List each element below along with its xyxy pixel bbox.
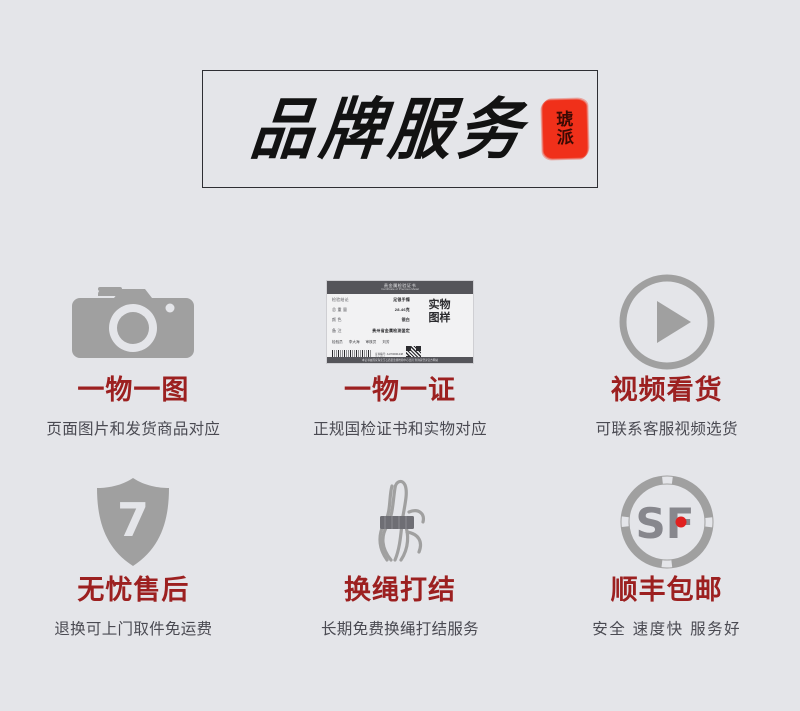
feature-subtitle: 长期免费换绳打结服务 — [321, 617, 479, 639]
certificate-field-key: 检验结论 — [332, 297, 349, 303]
certificate-sample-label-2: 图样 — [428, 312, 450, 325]
certificate-sample-label-1: 实物 — [428, 299, 450, 312]
certificate-row: 备 注 贵州省金属检测鉴定 — [332, 328, 410, 334]
feature-title: 无忧售后 — [77, 576, 189, 606]
feature-grid: 一物一图 页面图片和发货商品对应 贵金属检验证书 Certificate of … — [0, 258, 800, 658]
feature-title: 一物一图 — [77, 376, 189, 406]
feature-cell-worry-free-aftersales: 7 无忧售后 退换可上门取件免运费 — [0, 458, 267, 658]
certificate-card-icon: 贵金属检验证书 Certificate of Precious Metal 检验… — [326, 280, 474, 364]
certificate-field-value: 银白 — [402, 317, 410, 323]
rope-coil-icon — [361, 474, 439, 570]
feature-cell-video-preview: 视频看货 可联系客服视频选货 — [533, 258, 800, 458]
feature-subtitle: 退换可上门取件免运费 — [54, 617, 212, 639]
seal-char-bottom: 派 — [557, 129, 574, 148]
feature-cell-one-item-one-certificate: 贵金属检验证书 Certificate of Precious Metal 检验… — [267, 258, 534, 458]
feature-title: 顺丰包邮 — [611, 576, 723, 606]
certificate-field-value: 足银手镯 — [393, 297, 410, 303]
certificate-row: 检验结论 足银手镯 — [332, 297, 410, 303]
brand-seal-stamp: 琥 派 — [542, 99, 588, 158]
certificate-header-en: Certificate of Precious Metal — [381, 288, 419, 291]
certificate-field-key: 备 注 — [332, 328, 342, 334]
feature-title: 换绳打结 — [344, 576, 456, 606]
icon-slot — [617, 272, 717, 372]
feature-cell-sf-free-shipping: SF 顺丰包邮 安全 速度快 服务好 — [533, 458, 800, 658]
icon-slot: SF — [619, 472, 715, 572]
banner-border-box: 品牌服务 琥 派 — [202, 70, 598, 188]
sf-express-icon: SF — [619, 474, 715, 570]
feature-subtitle: 可联系客服视频选货 — [596, 417, 738, 439]
shield-badge-number: 7 — [117, 493, 149, 547]
certificate-sample-area: 实物 图样 — [410, 297, 469, 341]
feature-subtitle: 正规国检证书和实物对应 — [313, 417, 487, 439]
feature-title: 一物一证 — [344, 376, 456, 406]
feature-subtitle: 安全 速度快 服务好 — [592, 617, 741, 639]
certificate-row: 总 重 量 28.46克 — [332, 307, 410, 313]
feature-cell-one-item-one-photo: 一物一图 页面图片和发货商品对应 — [0, 258, 267, 458]
banner-headline: 品牌服务 — [247, 96, 530, 163]
certificate-field-key: 总 重 量 — [332, 307, 347, 313]
certificate-header: 贵金属检验证书 Certificate of Precious Metal — [327, 281, 473, 294]
certificate-field-value: 28.46克 — [395, 307, 410, 313]
icon-slot — [361, 472, 439, 572]
icon-slot: 7 — [91, 472, 175, 572]
feature-subtitle: 页面图片和发货商品对应 — [46, 417, 220, 439]
certificate-field-value: 贵州省金属检测鉴定 — [372, 328, 410, 334]
certificate-field-key: 颜 色 — [332, 317, 342, 323]
camera-icon — [72, 278, 194, 366]
shield-seven-icon: 7 — [91, 474, 175, 570]
feature-cell-rope-replacement: 换绳打结 长期免费换绳打结服务 — [267, 458, 534, 658]
icon-slot: 贵金属检验证书 Certificate of Precious Metal 检验… — [326, 272, 474, 372]
certificate-row: 颜 色 银白 — [332, 317, 410, 323]
certificate-body: 检验结论 足银手镯 总 重 量 28.46克 颜 色 银白 备 注 — [327, 294, 473, 341]
play-circle-icon — [617, 272, 717, 372]
certificate-fields: 检验结论 足银手镯 总 重 量 28.46克 颜 色 银白 备 注 — [332, 297, 410, 341]
feature-title: 视频看货 — [611, 376, 723, 406]
seal-char-top: 琥 — [556, 110, 573, 129]
brand-service-banner: 品牌服务 琥 派 — [0, 0, 800, 258]
icon-slot — [72, 272, 194, 372]
certificate-footer-note: 本证书由国家珠宝玉石质量监督检验中心出具 查询请登录官方网站 — [327, 357, 473, 363]
